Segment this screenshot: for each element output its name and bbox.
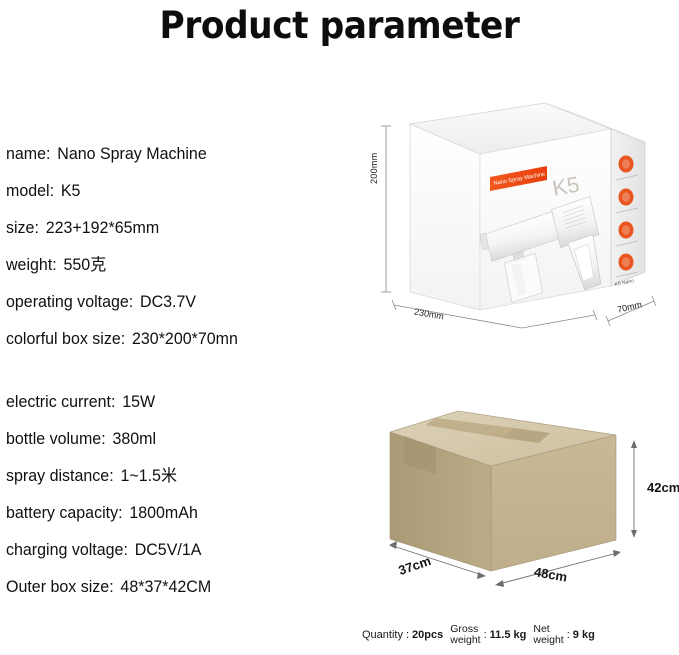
retail-box-model-badge: K5 — [550, 171, 581, 200]
spec-label-size: size: — [6, 219, 39, 237]
spec-label-outer-box-size: Outer box size: — [6, 578, 114, 596]
specification-list: name:Nano Spray Machine model:K5 size:22… — [6, 136, 358, 606]
spec-row-operating-voltage: operating voltage:DC3.7V — [6, 284, 347, 321]
net-weight-colon: : — [567, 629, 570, 641]
quantity-item: Quantity : 20pcs — [362, 629, 443, 641]
spec-value-operating-voltage: DC3.7V — [140, 293, 196, 311]
gross-weight-value: 11.5 kg — [490, 629, 527, 641]
spec-label-electric-current: electric current: — [6, 393, 115, 411]
net-weight-item: Net weight : 9 kg — [533, 624, 594, 645]
spec-row-size: size:223+192*65mm — [6, 210, 347, 247]
quantity-value: 20pcs — [412, 629, 443, 641]
spec-row-outer-box-size: Outer box size:48*37*42CM — [6, 569, 347, 606]
spec-label-colorful-box-size: colorful box size: — [6, 330, 125, 348]
spec-label-bottle-volume: bottle volume: — [6, 430, 106, 448]
product-illustrations: Nano Spray Machine K5 — [362, 96, 679, 655]
spec-row-spray-distance: spray distance:1~1.5米 — [6, 458, 347, 495]
spec-label-weight: weight: — [6, 256, 57, 274]
net-weight-label-line2: weight — [533, 635, 563, 646]
retail-box-height-label: 200mm — [369, 152, 379, 184]
spec-value-name: Nano Spray Machine — [57, 145, 206, 163]
retail-box-illustration: Nano Spray Machine K5 — [362, 96, 679, 366]
quantity-label: Quantity — [362, 629, 403, 641]
spec-row-electric-current: electric current:15W — [6, 384, 347, 421]
spec-label-battery-capacity: battery capacity: — [6, 504, 123, 522]
spec-row-bottle-volume: bottle volume:380ml — [6, 421, 347, 458]
shipping-summary: Quantity : 20pcs Gross weight : 11.5 kg … — [362, 618, 679, 652]
spec-row-charging-voltage: charging voltage:DC5V/1A — [6, 532, 347, 569]
spec-value-spray-distance: 1~1.5米 — [120, 467, 177, 485]
gross-weight-colon: : — [484, 629, 487, 641]
spec-value-battery-capacity: 1800mAh — [129, 504, 198, 522]
net-weight-value: 9 kg — [573, 629, 595, 641]
gross-weight-label: Gross weight — [450, 624, 480, 645]
spec-group-primary: name:Nano Spray Machine model:K5 size:22… — [6, 136, 358, 358]
spec-value-weight: 550克 — [64, 256, 107, 274]
spec-group-secondary: electric current:15W bottle volume:380ml… — [6, 384, 358, 606]
spec-label-charging-voltage: charging voltage: — [6, 541, 128, 559]
carton-height-label: 42cm — [647, 480, 679, 495]
spec-row-battery-capacity: battery capacity:1800mAh — [6, 495, 347, 532]
page-title: Product parameter — [24, 4, 655, 47]
carton-box-illustration: 42cm 48cm 37cm — [362, 388, 679, 618]
spec-value-colorful-box-size: 230*200*70mn — [132, 330, 238, 348]
spec-value-bottle-volume: 380ml — [112, 430, 156, 448]
spec-value-model: K5 — [61, 182, 81, 200]
gross-weight-label-line2: weight — [450, 635, 480, 646]
spec-value-outer-box-size: 48*37*42CM — [120, 578, 211, 596]
spec-label-model: model: — [6, 182, 54, 200]
carton-box-svg — [362, 388, 679, 618]
quantity-colon: : — [406, 629, 409, 641]
spec-value-charging-voltage: DC5V/1A — [135, 541, 202, 559]
retail-box-left-edge-face — [410, 124, 480, 310]
spec-row-colorful-box-size: colorful box size:230*200*70mn — [6, 321, 347, 358]
spec-row-model: model:K5 — [6, 173, 347, 210]
spec-label-spray-distance: spray distance: — [6, 467, 114, 485]
net-weight-label: Net weight — [533, 624, 563, 645]
gross-weight-item: Gross weight : 11.5 kg — [450, 624, 526, 645]
spec-value-size: 223+192*65mm — [46, 219, 159, 237]
spec-row-weight: weight:550克 — [6, 247, 347, 284]
spec-label-name: name: — [6, 145, 50, 163]
spec-row-name: name:Nano Spray Machine — [6, 136, 347, 173]
spec-label-operating-voltage: operating voltage: — [6, 293, 133, 311]
retail-box-svg: Nano Spray Machine K5 — [362, 96, 679, 366]
spec-value-electric-current: 15W — [122, 393, 155, 411]
